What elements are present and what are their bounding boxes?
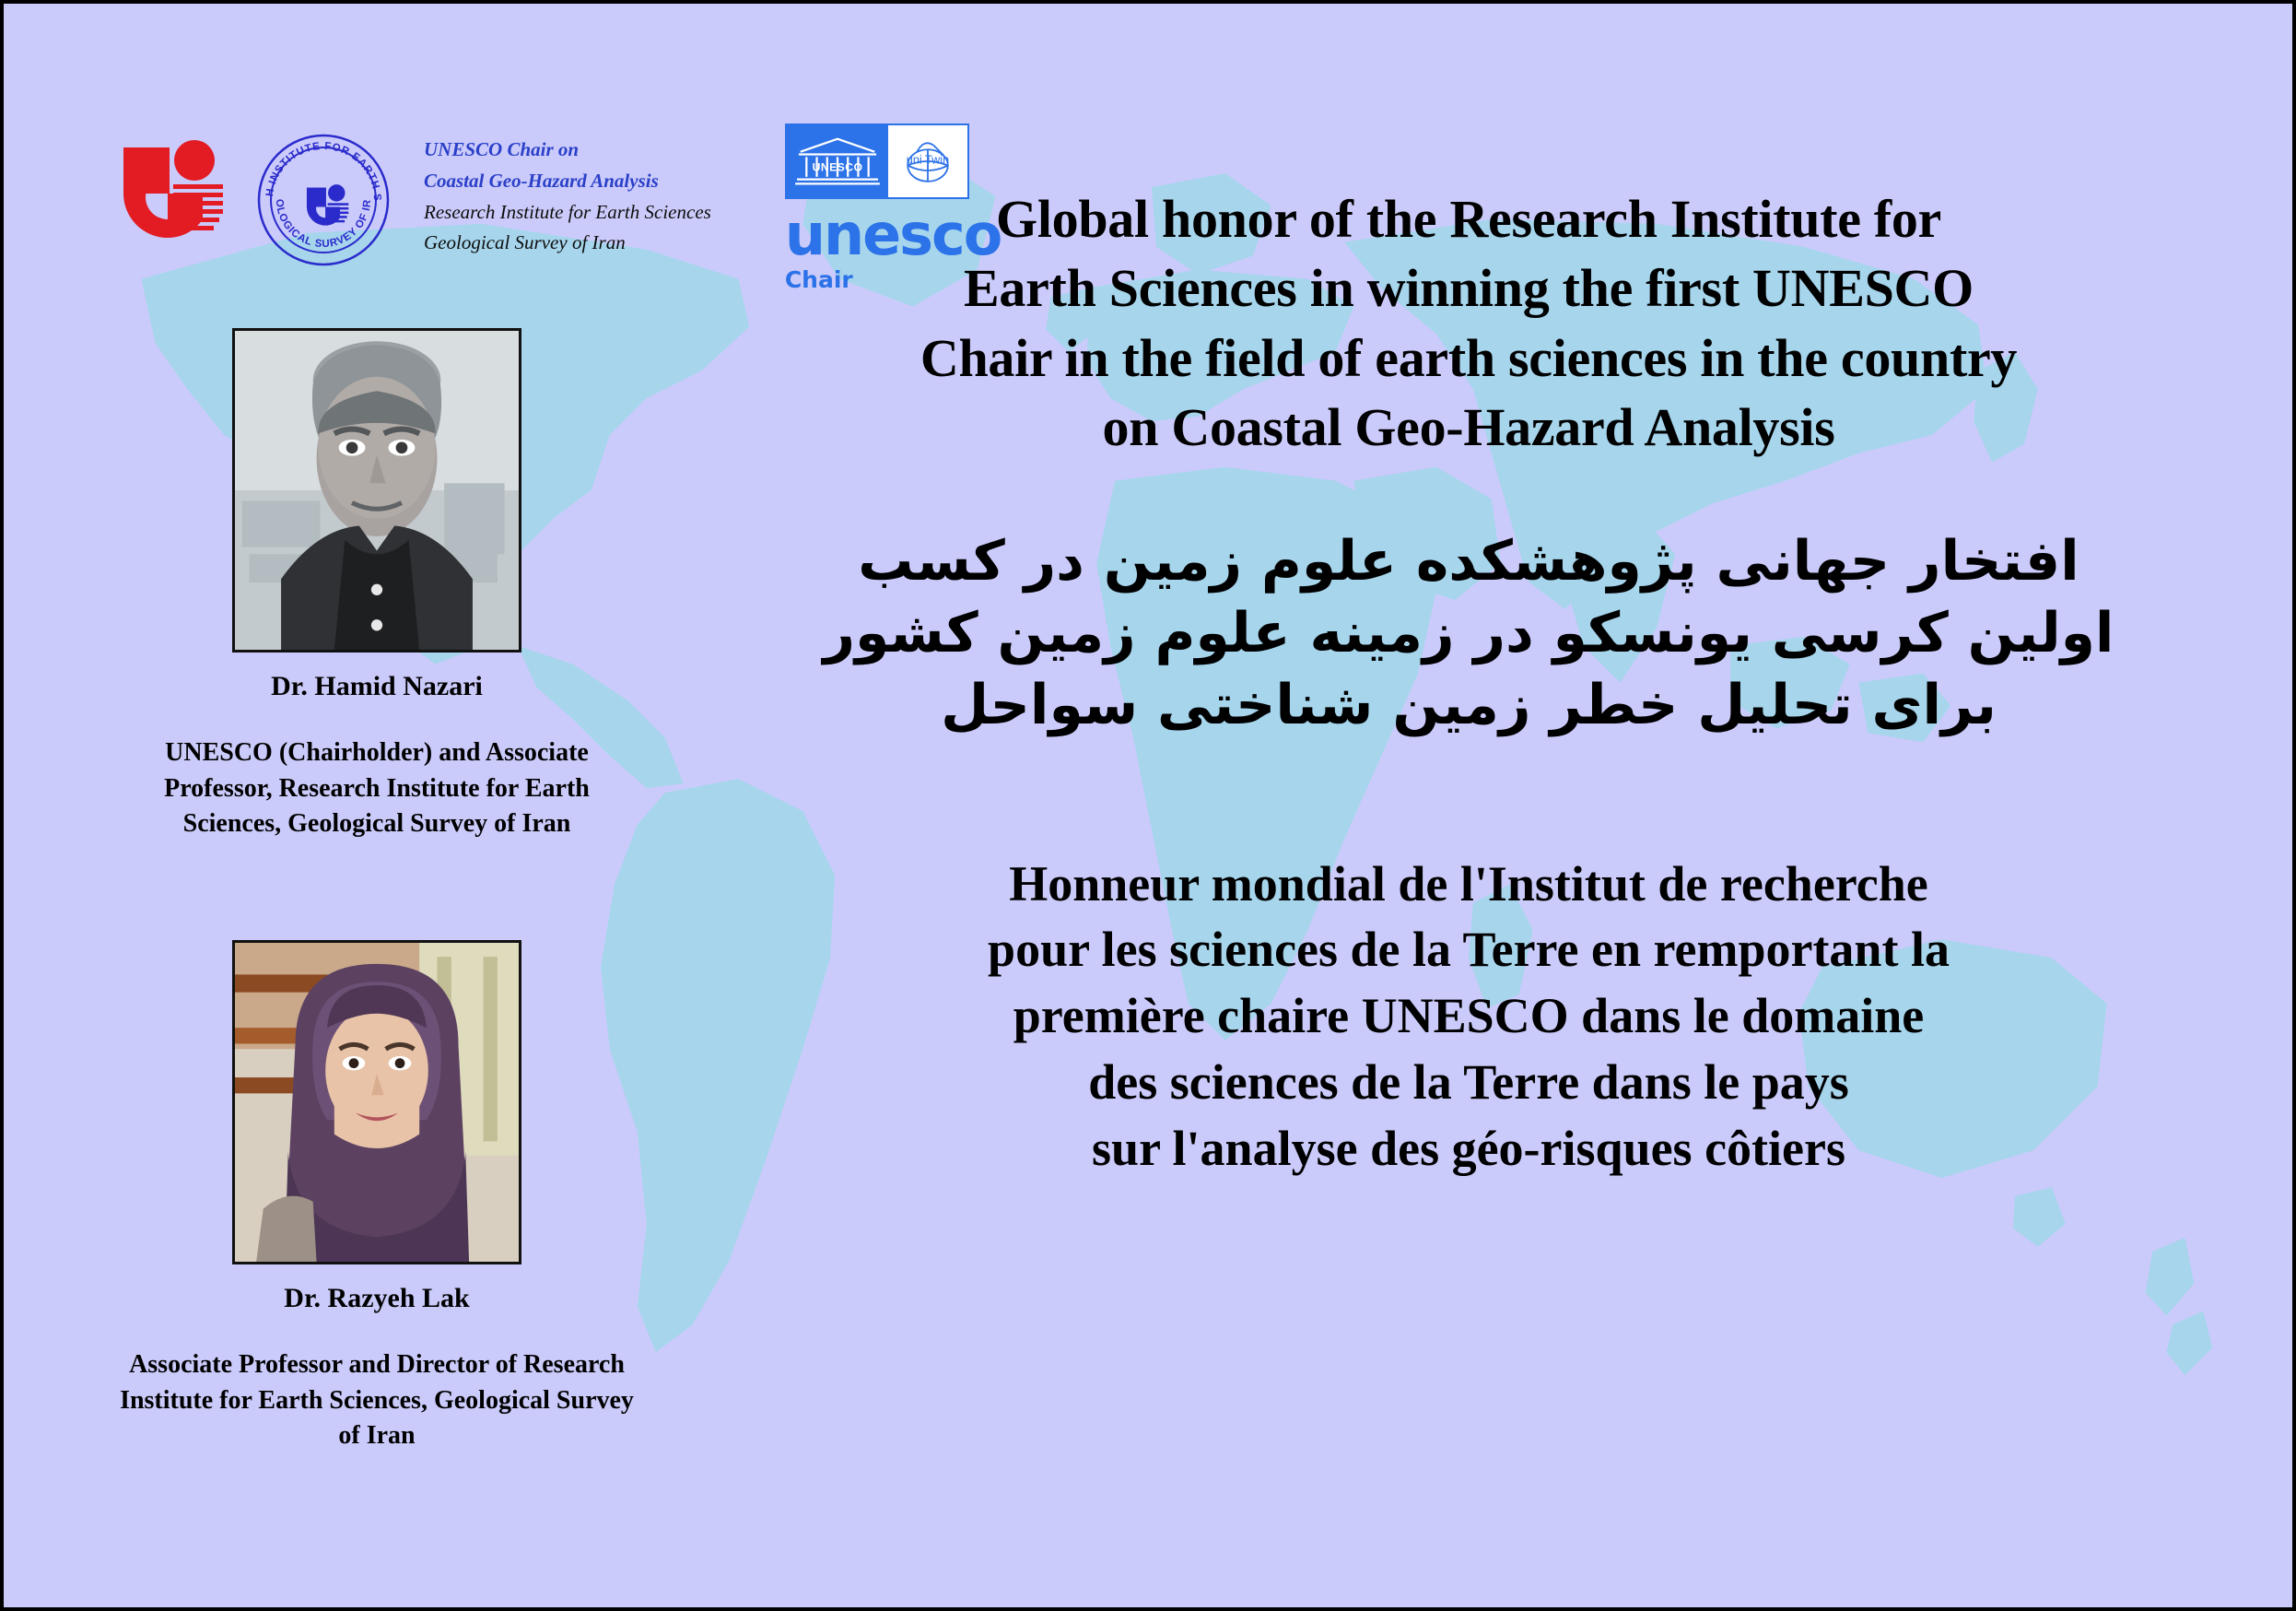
headline-french: Honneur mondial de l'Institut de recherc… bbox=[685, 852, 2252, 1182]
person-card-nazari: Dr. Hamid Nazari UNESCO (Chairholder) an… bbox=[96, 328, 658, 842]
chair-caption-line-2: Coastal Geo-Hazard Analysis bbox=[424, 168, 711, 195]
chair-caption-block: UNESCO Chair on Coastal Geo-Hazard Analy… bbox=[424, 136, 711, 257]
person-role-nazari: UNESCO (Chairholder) and Associate Profe… bbox=[96, 735, 658, 842]
person-role-lak: Associate Professor and Director of Rese… bbox=[96, 1347, 658, 1454]
person-card-lak: Dr. Razyeh Lak Associate Professor and D… bbox=[96, 940, 658, 1454]
headline-en-line-1: Global honor of the Research Institute f… bbox=[685, 184, 2252, 253]
headline-column: Global honor of the Research Institute f… bbox=[685, 184, 2252, 1182]
person-name-nazari: Dr. Hamid Nazari bbox=[96, 671, 658, 702]
svg-text:uni Twin: uni Twin bbox=[906, 153, 948, 167]
headline-english: Global honor of the Research Institute f… bbox=[685, 184, 2252, 463]
svg-text:UNESCO: UNESCO bbox=[812, 160, 862, 173]
chair-caption-line-4: Geological Survey of Iran bbox=[424, 229, 711, 257]
headline-fa-line-3: برای تحلیل خطر زمین شناختی سواحل bbox=[685, 669, 2252, 741]
headline-en-line-2: Earth Sciences in winning the first UNES… bbox=[685, 253, 2252, 323]
headline-fr-line-2: pour les sciences de la Terre en remport… bbox=[685, 917, 2252, 983]
headline-fa-line-2: اولین کرسی یونسکو در زمینه علوم زمین کشو… bbox=[685, 597, 2252, 669]
headline-fr-line-3: première chaire UNESCO dans le domaine bbox=[685, 983, 2252, 1050]
poster-canvas: RESEARCH INSTITUTE FOR EARTH SCIENCES GE… bbox=[0, 0, 2296, 1611]
portrait-photo-razyeh-lak bbox=[232, 940, 521, 1264]
headline-en-line-4: on Coastal Geo-Hazard Analysis bbox=[685, 393, 2252, 462]
headline-fr-line-1: Honneur mondial de l'Institut de recherc… bbox=[685, 852, 2252, 918]
research-institute-seal-icon: RESEARCH INSTITUTE FOR EARTH SCIENCES GE… bbox=[254, 131, 392, 269]
person-name-lak: Dr. Razyeh Lak bbox=[96, 1283, 658, 1314]
portrait-photo-hamid-nazari bbox=[232, 328, 521, 653]
headline-fa-line-1: افتخار جهانی پژوهشکده علوم زمین در کسب bbox=[685, 525, 2252, 597]
headline-persian: افتخار جهانی پژوهشکده علوم زمین در کسب ا… bbox=[685, 525, 2252, 741]
headline-fr-line-5: sur l'analyse des géo-risques côtiers bbox=[685, 1116, 2252, 1182]
gsi-red-emblem-icon bbox=[103, 123, 223, 253]
chair-caption-line-3: Research Institute for Earth Sciences bbox=[424, 199, 711, 227]
headline-en-line-3: Chair in the field of earth sciences in … bbox=[685, 323, 2252, 393]
chair-caption-line-1: UNESCO Chair on bbox=[424, 136, 711, 164]
headline-fr-line-4: des sciences de la Terre dans le pays bbox=[685, 1050, 2252, 1116]
